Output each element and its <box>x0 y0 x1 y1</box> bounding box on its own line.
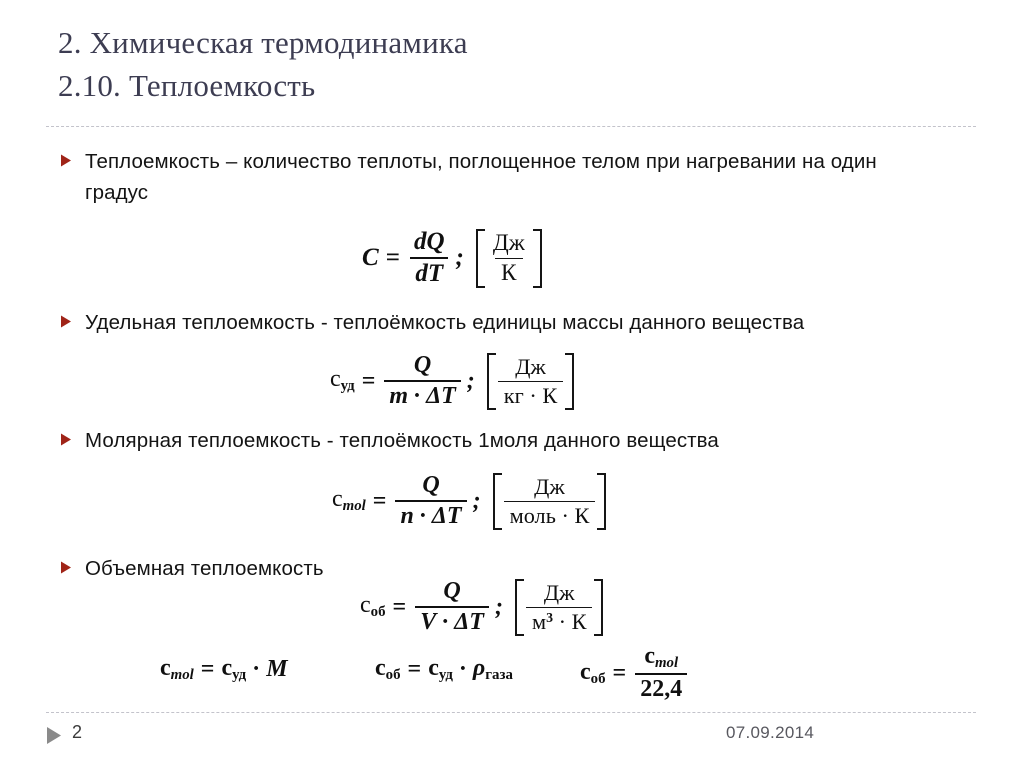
divider-top <box>46 126 976 127</box>
separator: ; <box>467 368 475 395</box>
relation-factor: ρгаза <box>473 655 513 684</box>
relation-lhs-subscript: об <box>386 667 401 683</box>
relation-rhs-subscript: уд <box>439 667 453 683</box>
relation-rhs-var: cуд <box>221 655 246 684</box>
unit-bracket-group: Дж К <box>476 229 542 288</box>
relation-volumetric-from-specific: cоб = cуд · ρгаза <box>375 655 513 684</box>
fraction-denominator: m·ΔT <box>384 380 460 410</box>
fraction-denominator: n·ΔT <box>395 500 466 530</box>
fraction-denominator: dT <box>410 257 448 288</box>
denominator-var-1: V <box>420 609 436 635</box>
unit-bracket-group: Дж моль · К <box>493 473 607 530</box>
fraction: Q V·ΔT <box>415 578 489 636</box>
multiplication-dot: · <box>441 609 449 635</box>
multiplication-dot: · <box>252 656 260 683</box>
bullet-item-heat-capacity: Теплоемкость – количество теплоты, погло… <box>60 146 890 208</box>
relation-lhs: cоб <box>375 655 401 684</box>
bracket-left-icon <box>515 579 524 636</box>
unit-bracket-group: Дж м3 · К <box>515 579 604 636</box>
unit-fraction: Дж м3 · К <box>524 579 595 636</box>
equals-sign: = <box>393 594 407 621</box>
title-line-1: 2. Химическая термодинамика <box>58 22 958 65</box>
relation-volumetric-from-molar: cоб = cmol 22,4 <box>580 643 689 703</box>
relation-lhs-subscript: mol <box>171 667 194 683</box>
denominator-var-2: ΔT <box>432 503 462 529</box>
triangle-right-icon <box>60 154 72 167</box>
numerator-subscript: mol <box>655 655 678 671</box>
separator: ; <box>473 488 481 515</box>
separator: ; <box>495 594 503 621</box>
title-line-2: 2.10. Теплоемкость <box>58 65 958 108</box>
formula-volumetric-heat: cоб = Q V·ΔT ; Дж м3 · К <box>360 578 603 636</box>
relation-lhs-subscript: об <box>591 671 606 687</box>
equals-sign: = <box>362 368 376 395</box>
multiplication-dot: · <box>459 656 467 683</box>
unit-bracket-group: Дж кг · К <box>487 353 574 410</box>
unit-denominator: кг · К <box>498 381 563 409</box>
fraction: dQ dT <box>409 228 450 288</box>
unit-denominator: К <box>495 258 523 287</box>
formula-heat-capacity: C = dQ dT ; Дж К <box>362 228 542 288</box>
equals-sign: = <box>201 656 215 683</box>
fraction: cmol 22,4 <box>635 643 687 703</box>
formula-specific-heat: cуд = Q m·ΔT ; Дж кг · К <box>330 352 574 410</box>
denominator-var-2: ΔT <box>426 383 456 409</box>
formula-lhs-subscript: об <box>371 605 386 621</box>
bullet-text: Теплоемкость – количество теплоты, погло… <box>85 146 890 208</box>
fraction-numerator: Q <box>417 472 444 500</box>
equals-sign: = <box>386 244 400 272</box>
formula-lhs: C <box>362 244 379 272</box>
fraction: Q m·ΔT <box>384 352 460 410</box>
multiplication-dot: · <box>419 503 427 529</box>
summary-relations-row: cmol = cуд · M cоб = cуд · ρгаза cоб = c… <box>160 643 960 701</box>
formula-lhs: cоб <box>360 592 386 621</box>
relation-lhs: cоб <box>580 659 606 688</box>
triangle-right-icon <box>60 433 72 446</box>
denominator-var-1: m <box>389 383 408 409</box>
formula-lhs-subscript: mol <box>343 499 366 515</box>
bullet-text: Объемная теплоемкость <box>85 553 324 584</box>
bracket-left-icon <box>493 473 502 530</box>
bracket-right-icon <box>597 473 606 530</box>
equals-sign: = <box>408 656 422 683</box>
triangle-right-icon <box>60 561 72 574</box>
unit-den-exponent: 3 <box>546 610 553 625</box>
unit-denominator: м3 · К <box>526 607 593 635</box>
page-title: 2. Химическая термодинамика 2.10. Теплое… <box>58 22 958 108</box>
formula-lhs-subscript: уд <box>341 379 355 395</box>
triangle-right-icon <box>60 315 72 328</box>
bullet-text: Удельная теплоемкость - теплоёмкость еди… <box>85 307 804 338</box>
triangle-right-icon <box>46 726 63 745</box>
relation-rhs-var: cуд <box>428 655 453 684</box>
relation-molar-from-specific: cmol = cуд · M <box>160 655 288 684</box>
formula-lhs: cmol <box>332 486 366 515</box>
relation-lhs: cmol <box>160 655 194 684</box>
bracket-left-icon <box>476 229 485 288</box>
slide-date: 07.09.2014 <box>726 723 814 743</box>
fraction-numerator: cmol <box>639 643 683 673</box>
denominator-var-2: ΔT <box>454 609 484 635</box>
bullet-text: Молярная теплоемкость - теплоёмкость 1мо… <box>85 425 719 456</box>
fraction: Q n·ΔT <box>395 472 466 530</box>
bracket-right-icon <box>533 229 542 288</box>
fraction-numerator: Q <box>409 352 436 380</box>
separator: ; <box>456 244 464 272</box>
unit-den-base: м <box>532 609 546 634</box>
bullet-item-molar-heat: Молярная теплоемкость - теплоёмкость 1мо… <box>60 425 940 456</box>
formula-molar-heat: cmol = Q n·ΔT ; Дж моль · К <box>332 472 606 530</box>
unit-denominator: моль · К <box>504 501 596 529</box>
unit-fraction: Дж моль · К <box>502 473 598 530</box>
unit-numerator: Дж <box>528 474 571 501</box>
fraction-denominator: 22,4 <box>635 673 687 703</box>
equals-sign: = <box>613 660 627 687</box>
fraction-numerator: dQ <box>409 228 450 257</box>
formula-lhs: cуд <box>330 366 355 395</box>
fraction-denominator: V·ΔT <box>415 606 489 636</box>
relation-rhs-subscript: уд <box>232 667 246 683</box>
fraction-numerator: Q <box>438 578 465 606</box>
unit-fraction: Дж кг · К <box>496 353 565 410</box>
multiplication-dot: · <box>413 383 421 409</box>
relation-factor-subscript: газа <box>485 667 513 683</box>
bullet-item-specific-heat: Удельная теплоемкость - теплоёмкость еди… <box>60 307 890 338</box>
denominator-var-1: n <box>400 503 413 529</box>
unit-numerator: Дж <box>509 354 552 381</box>
bracket-right-icon <box>565 353 574 410</box>
unit-den-tail: · К <box>553 609 586 634</box>
bracket-right-icon <box>594 579 603 636</box>
divider-bottom <box>46 712 976 713</box>
relation-factor: M <box>266 656 287 683</box>
bracket-left-icon <box>487 353 496 410</box>
unit-fraction: Дж К <box>485 229 533 288</box>
slide-number: 2 <box>72 722 82 743</box>
unit-numerator: Дж <box>538 580 581 607</box>
unit-numerator: Дж <box>487 230 531 258</box>
equals-sign: = <box>373 488 387 515</box>
